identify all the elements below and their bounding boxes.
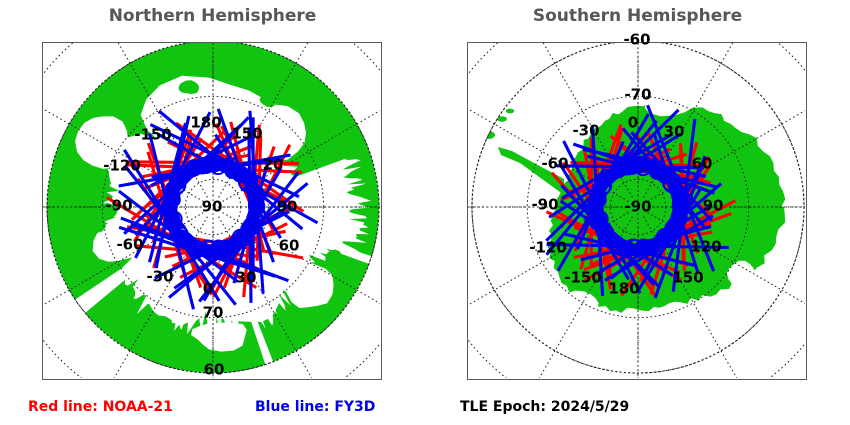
legend-tle-epoch: TLE Epoch: 2024/5/29 — [460, 399, 629, 415]
graticule-label-90-7: 90 — [703, 199, 724, 214]
graticule-label-30-3: 30 — [664, 125, 685, 140]
graticule-label-0-1: 0 — [628, 116, 638, 131]
graticule-label-0-11: 0 — [203, 282, 213, 297]
graticule-label-minus70-0: -70 — [624, 88, 651, 103]
polar-plot-southern: -700-3030-6060-9090-120120-150150180-90 — [467, 42, 807, 380]
panel-southern-hemisphere: Southern Hemisphere -700-3030-6060-9090-… — [425, 0, 850, 425]
panel-title-southern: Southern Hemisphere — [425, 6, 850, 26]
panel-northern-hemisphere: Northern Hemisphere 180-150150-12020-909… — [0, 0, 425, 425]
graticule-label-120-9: 120 — [690, 240, 721, 255]
graticule-label-60-14: 60 — [204, 363, 225, 378]
graticule-label-minus60-7: -60 — [116, 238, 143, 253]
legend-blue-line: Blue line: FY3D — [255, 399, 375, 415]
graticule-label-minus30-9: -30 — [146, 270, 173, 285]
graticule-label-minus150-10: -150 — [564, 271, 602, 286]
latitude-label-minus60-outside: -60 — [623, 33, 650, 48]
graticule-label-minus90-13: -90 — [624, 200, 651, 215]
graticule-label-minus150-1: -150 — [134, 128, 172, 143]
graticule-label-180-0: 180 — [190, 116, 221, 131]
graticule-label-30-10: 30 — [236, 271, 257, 286]
graticule-label-90-12: 90 — [202, 200, 223, 215]
graticule-label-150-2: 150 — [231, 127, 262, 142]
graticule-label-minus120-3: -120 — [103, 159, 141, 174]
polar-plot-northern: 180-150150-12020-9090-6060-30300907060 — [42, 42, 382, 380]
graticule-label-minus60-4: -60 — [541, 157, 568, 172]
graticule-label-150-11: 150 — [672, 271, 703, 286]
graticule-label-minus90-5: -90 — [105, 199, 132, 214]
graticule-label-60-5: 60 — [692, 157, 713, 172]
graticule-label-70-13: 70 — [203, 306, 224, 321]
graticule-label-180-12: 180 — [608, 282, 639, 297]
graticule-label-minus120-8: -120 — [529, 241, 567, 256]
graticule-label-minus90-6: -90 — [531, 198, 558, 213]
legend-red-line: Red line: NOAA-21 — [28, 399, 173, 415]
graticule-label-60-8: 60 — [279, 239, 300, 254]
panel-title-northern: Northern Hemisphere — [0, 6, 425, 26]
graticule-label-20-4: 20 — [263, 158, 284, 173]
graticule-label-90-6: 90 — [277, 200, 298, 215]
graticule-label-minus30-2: -30 — [572, 124, 599, 139]
